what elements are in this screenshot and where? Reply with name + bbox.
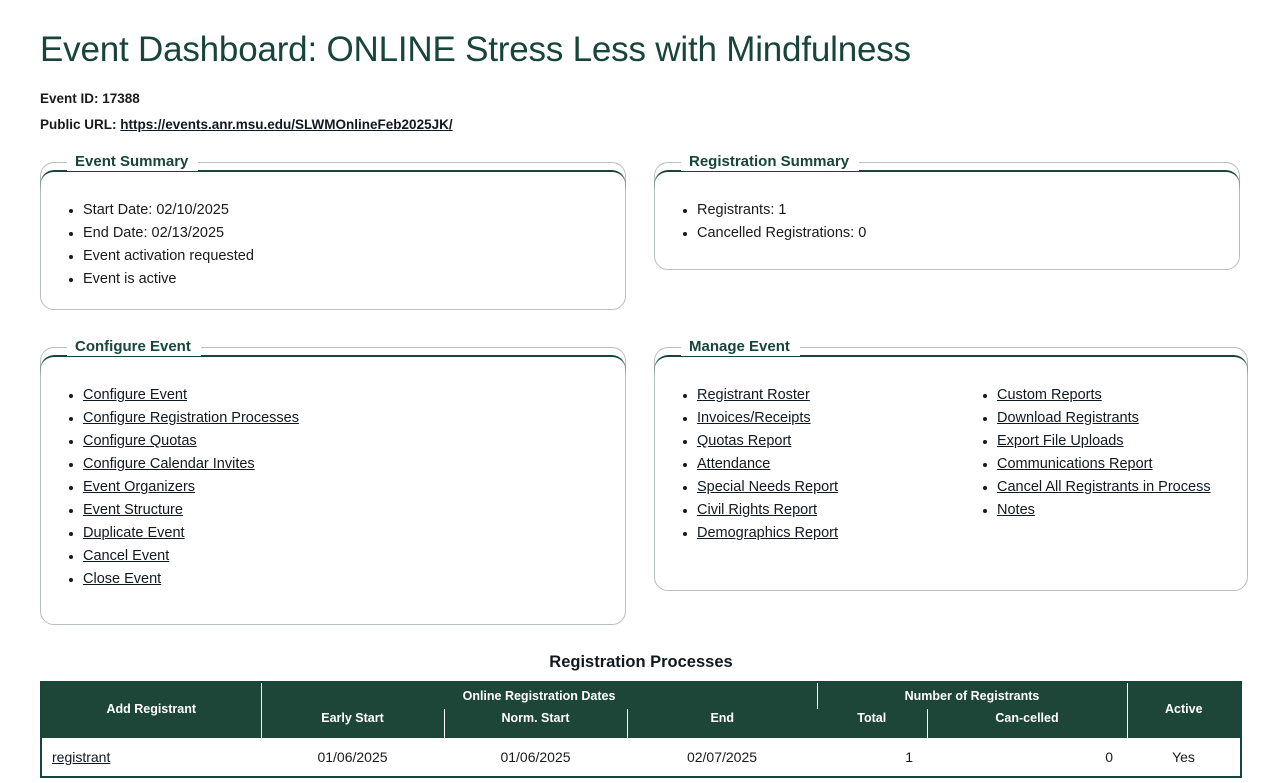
cell-add-registrant: registrant bbox=[41, 738, 261, 777]
link-custom-reports[interactable]: Custom Reports bbox=[997, 387, 1102, 403]
list-item: Registrants: 1 bbox=[697, 199, 1223, 222]
list-item: Configure Calendar Invites bbox=[83, 453, 609, 476]
event-id-label: Event ID: 17388 bbox=[40, 91, 140, 106]
link-demographics-report[interactable]: Demographics Report bbox=[697, 525, 838, 541]
col-header-cancelled: Can-celled bbox=[927, 709, 1127, 738]
registration-summary-list: Registrants: 1 Cancelled Registrations: … bbox=[671, 199, 1223, 245]
configure-event-legend: Configure Event bbox=[67, 338, 201, 356]
event-summary-panel: Event Summary Start Date: 02/10/2025 End… bbox=[40, 153, 626, 310]
registration-summary-legend: Registration Summary bbox=[681, 153, 859, 171]
registration-processes-table: Add Registrant Online Registration Dates… bbox=[40, 681, 1242, 778]
manage-event-column: Manage Event Registrant Roster Invoices/… bbox=[654, 338, 1240, 625]
col-group-online-registration-dates: Online Registration Dates bbox=[261, 682, 817, 709]
registration-summary-panel: Registration Summary Registrants: 1 Canc… bbox=[654, 153, 1240, 270]
list-item: Cancel Event bbox=[83, 545, 609, 568]
link-registrant[interactable]: registrant bbox=[52, 749, 110, 765]
list-item: Attendance bbox=[697, 453, 971, 476]
list-item: Configure Registration Processes bbox=[83, 407, 609, 430]
list-item: Export File Uploads bbox=[997, 430, 1231, 453]
public-url-label: Public URL: bbox=[40, 117, 117, 132]
cell-early-start: 01/06/2025 bbox=[261, 738, 444, 777]
event-id-line: Event ID: 17388 bbox=[40, 90, 1242, 107]
list-item: Event Organizers bbox=[83, 476, 609, 499]
link-quotas-report[interactable]: Quotas Report bbox=[697, 433, 791, 449]
link-invoices-receipts[interactable]: Invoices/Receipts bbox=[697, 410, 811, 426]
event-summary-column: Event Summary Start Date: 02/10/2025 End… bbox=[40, 153, 626, 310]
cell-end: 02/07/2025 bbox=[627, 738, 817, 777]
cell-cancelled: 0 bbox=[927, 738, 1127, 777]
list-item: Download Registrants bbox=[997, 407, 1231, 430]
list-item: Invoices/Receipts bbox=[697, 407, 971, 430]
list-item: Close Event bbox=[83, 568, 609, 591]
link-civil-rights-report[interactable]: Civil Rights Report bbox=[697, 502, 817, 518]
col-header-end: End bbox=[627, 709, 817, 738]
manage-event-links-col1: Registrant Roster Invoices/Receipts Quot… bbox=[671, 384, 971, 545]
table-body: registrant 01/06/2025 01/06/2025 02/07/2… bbox=[41, 738, 1241, 777]
registration-summary-body: Registrants: 1 Cancelled Registrations: … bbox=[671, 199, 1223, 251]
event-summary-legend: Event Summary bbox=[67, 153, 198, 171]
link-duplicate-event[interactable]: Duplicate Event bbox=[83, 525, 185, 541]
list-item: Communications Report bbox=[997, 453, 1231, 476]
link-configure-event[interactable]: Configure Event bbox=[83, 387, 187, 403]
link-cancel-event[interactable]: Cancel Event bbox=[83, 548, 169, 564]
public-url-line: Public URL: https://events.anr.msu.edu/S… bbox=[40, 116, 1242, 133]
link-configure-calendar-invites[interactable]: Configure Calendar Invites bbox=[83, 456, 255, 472]
configure-event-links: Configure Event Configure Registration P… bbox=[57, 384, 609, 591]
col-header-active: Active bbox=[1127, 682, 1241, 738]
list-item: Event Structure bbox=[83, 499, 609, 522]
table-header: Add Registrant Online Registration Dates… bbox=[41, 682, 1241, 738]
link-event-organizers[interactable]: Event Organizers bbox=[83, 479, 195, 495]
dashboard-page: Event Dashboard: ONLINE Stress Less with… bbox=[0, 0, 1282, 778]
manage-event-panel: Manage Event Registrant Roster Invoices/… bbox=[654, 338, 1248, 591]
link-attendance[interactable]: Attendance bbox=[697, 456, 770, 472]
actions-row: Configure Event Configure Event Configur… bbox=[40, 338, 1242, 625]
manage-event-legend: Manage Event bbox=[681, 338, 800, 356]
registration-processes-title: Registration Processes bbox=[40, 653, 1242, 672]
list-item: Registrant Roster bbox=[697, 384, 971, 407]
configure-event-panel: Configure Event Configure Event Configur… bbox=[40, 338, 626, 625]
col-header-total: Total bbox=[817, 709, 927, 738]
manage-event-link-columns: Registrant Roster Invoices/Receipts Quot… bbox=[671, 376, 1231, 545]
configure-event-column: Configure Event Configure Event Configur… bbox=[40, 338, 626, 625]
event-summary-list: Start Date: 02/10/2025 End Date: 02/13/2… bbox=[57, 199, 609, 291]
configure-event-body: Configure Event Configure Registration P… bbox=[57, 384, 609, 606]
manage-event-body: Registrant Roster Invoices/Receipts Quot… bbox=[671, 376, 1231, 572]
event-summary-body: Start Date: 02/10/2025 End Date: 02/13/2… bbox=[57, 199, 609, 291]
list-item: Notes bbox=[997, 499, 1231, 522]
list-item: Event is active bbox=[83, 268, 609, 291]
link-cancel-all-registrants-in-process[interactable]: Cancel All Registrants in Process bbox=[997, 479, 1211, 495]
list-item: Civil Rights Report bbox=[697, 499, 971, 522]
link-configure-quotas[interactable]: Configure Quotas bbox=[83, 433, 197, 449]
registration-summary-column: Registration Summary Registrants: 1 Canc… bbox=[654, 153, 1240, 310]
cell-total: 1 bbox=[817, 738, 927, 777]
manage-event-links-col2: Custom Reports Download Registrants Expo… bbox=[971, 384, 1231, 545]
table-header-row-groups: Add Registrant Online Registration Dates… bbox=[41, 682, 1241, 709]
page-title: Event Dashboard: ONLINE Stress Less with… bbox=[40, 0, 1242, 72]
link-registrant-roster[interactable]: Registrant Roster bbox=[697, 387, 810, 403]
list-item: Special Needs Report bbox=[697, 476, 971, 499]
link-export-file-uploads[interactable]: Export File Uploads bbox=[997, 433, 1124, 449]
list-item: Event activation requested bbox=[83, 245, 609, 268]
list-item: Cancel All Registrants in Process bbox=[997, 476, 1231, 499]
col-header-add-registrant: Add Registrant bbox=[41, 682, 261, 738]
link-close-event[interactable]: Close Event bbox=[83, 571, 161, 587]
list-item: End Date: 02/13/2025 bbox=[83, 222, 609, 245]
link-event-structure[interactable]: Event Structure bbox=[83, 502, 183, 518]
list-item: Cancelled Registrations: 0 bbox=[697, 222, 1223, 245]
link-download-registrants[interactable]: Download Registrants bbox=[997, 410, 1139, 426]
link-notes[interactable]: Notes bbox=[997, 502, 1035, 518]
list-item: Configure Event bbox=[83, 384, 609, 407]
cell-active: Yes bbox=[1127, 738, 1241, 777]
public-url-link[interactable]: https://events.anr.msu.edu/SLWMOnlineFeb… bbox=[120, 117, 452, 132]
list-item: Configure Quotas bbox=[83, 430, 609, 453]
list-item: Duplicate Event bbox=[83, 522, 609, 545]
cell-norm-start: 01/06/2025 bbox=[444, 738, 627, 777]
link-communications-report[interactable]: Communications Report bbox=[997, 456, 1153, 472]
list-item: Custom Reports bbox=[997, 384, 1231, 407]
summary-row: Event Summary Start Date: 02/10/2025 End… bbox=[40, 153, 1242, 310]
col-header-norm-start: Norm. Start bbox=[444, 709, 627, 738]
list-item: Quotas Report bbox=[697, 430, 971, 453]
table-row: registrant 01/06/2025 01/06/2025 02/07/2… bbox=[41, 738, 1241, 777]
col-header-early-start: Early Start bbox=[261, 709, 444, 738]
list-item: Demographics Report bbox=[697, 522, 971, 545]
link-special-needs-report[interactable]: Special Needs Report bbox=[697, 479, 838, 495]
link-configure-registration-processes[interactable]: Configure Registration Processes bbox=[83, 410, 299, 426]
list-item: Start Date: 02/10/2025 bbox=[83, 199, 609, 222]
col-group-number-of-registrants: Number of Registrants bbox=[817, 682, 1127, 709]
